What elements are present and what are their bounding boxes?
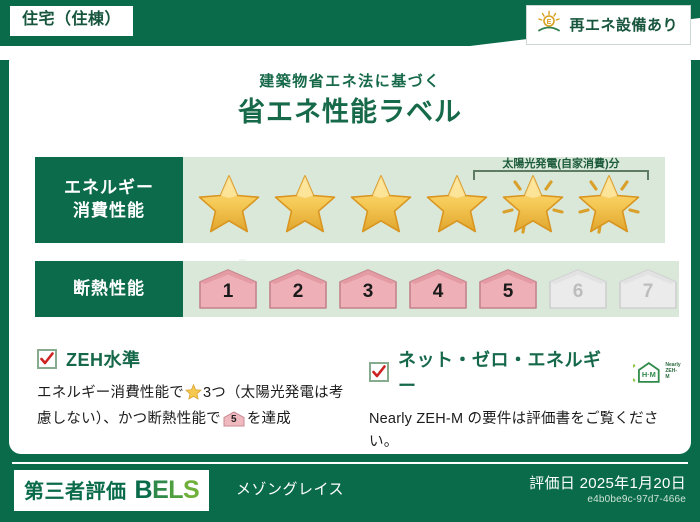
label-subtitle: 建築物省エネ法に基づく [9,70,691,91]
energy-row-label-line2: 消費性能 [73,200,145,223]
criterion-nze-header: ネット・ゼロ・エネルギー H·M Nearly ZEH-M [369,346,681,398]
evaluation-date-value: 2025年1月20日 [580,475,686,492]
insulation-grades-area: 1 2 3 4 5 6 7 [183,261,679,317]
renewable-equipment-badge: E 再エネ設備あり [526,5,691,45]
insulation-grade-number: 3 [337,281,399,303]
energy-row-label-line1: エネルギー [64,177,154,200]
insulation-grade-achieved: 1 [197,268,259,310]
solar-annotation-label: 太陽光発電(自家消費)分 [473,155,649,171]
nze-criterion-body: Nearly ZEH-M の要件は評価書をご覧ください。 [369,408,681,454]
bels-certification-chip: 第三者評価 BELS [14,470,209,511]
insulation-grade-number: 2 [267,281,329,303]
renewable-badge-label: 再エネ設備あり [569,14,678,35]
insulation-grade-achieved: 4 [407,268,469,310]
criterion-net-zero-energy: ネット・ゼロ・エネルギー H·M Nearly ZEH-M Nearly ZEH… [369,346,681,454]
label-title: 省エネ性能ラベル [9,90,691,129]
bels-letter: L [168,476,183,504]
energy-performance-row: エネルギー 消費性能 太陽光発電(自家消費)分 [35,157,665,243]
building-type-chip: 住宅（住棟） [10,6,133,36]
star-icon [185,384,202,408]
insulation-row-label-line1: 断熱性能 [73,278,145,301]
bels-wordmark: BELS [135,476,200,505]
insulation-grade-achieved: 3 [337,268,399,310]
svg-text:E: E [547,19,552,26]
evaluation-date-label: 評価日 [529,475,575,492]
insulation-grade-empty: 7 [617,268,679,310]
insulation-grade-number: 7 [617,281,679,303]
criterion-zeh-suijun: ZEH水準 エネルギー消費性能で3つ（太陽光発電は考慮しない）、かつ断熱性能で5… [37,346,355,431]
insulation-grade-number: 5 [477,281,539,303]
insulation-grade-number: 6 [547,281,609,303]
evaluation-date: 評価日 2025年1月20日 [529,472,686,493]
star-icon-filled [345,168,417,238]
bels-jp-label: 第三者評価 [24,475,127,504]
evaluation-id: e4b0be9c-97d7-466e [587,494,686,505]
zeh-m-logo-tiny2: ZEH-M [665,369,681,381]
zeh-body-part3: を達成 [247,411,291,427]
bels-energy-label: 住宅（住棟） E 再エネ設備あり ハウスラベル 建築物省エネ法に基づく 省エネ性… [0,0,700,522]
star-icon-filled [193,168,265,238]
bels-letter: S [183,476,199,504]
zeh-body-part1: エネルギー消費性能で [37,385,184,401]
label-card: ハウスラベル 建築物省エネ法に基づく 省エネ性能ラベル エネルギー 消費性能 太… [9,50,691,454]
insulation-grade-empty: 6 [547,268,609,310]
solar-annotation-bracket [473,170,649,180]
zeh-criterion-body: エネルギー消費性能で3つ（太陽光発電は考慮しない）、かつ断熱性能で5を達成 [37,382,355,431]
insulation-grade-number: 1 [197,281,259,303]
energy-stars-area: 太陽光発電(自家消費)分 [183,157,665,243]
nze-criterion-title: ネット・ゼロ・エネルギー [398,346,618,398]
insulation-row-label: 断熱性能 [35,261,183,317]
insulation-grade-achieved: 2 [267,268,329,310]
insulation-performance-row: 断熱性能 1 2 3 4 5 6 7 [35,261,665,317]
house-grade-number: 5 [223,412,245,428]
zeh-checkbox[interactable] [37,349,57,369]
criterion-zeh-header: ZEH水準 [37,346,355,372]
building-name: メゾングレイス [236,478,344,499]
bels-letter: E [152,476,168,504]
bels-letter: B [135,476,153,504]
house-grade-icon: 5 [223,411,245,427]
zeh-m-logo-inner: H·M [641,370,655,379]
nze-checkbox[interactable] [369,362,389,382]
energy-row-label: エネルギー 消費性能 [35,157,183,243]
footer-divider [12,462,688,464]
zeh-criterion-title: ZEH水準 [66,346,141,372]
insulation-grade-achieved: 5 [477,268,539,310]
insulation-grade-number: 4 [407,281,469,303]
zeh-m-logo: H·M Nearly ZEH-M [633,360,681,384]
star-icon-filled [269,168,341,238]
sun-renewable-icon: E [536,10,562,39]
